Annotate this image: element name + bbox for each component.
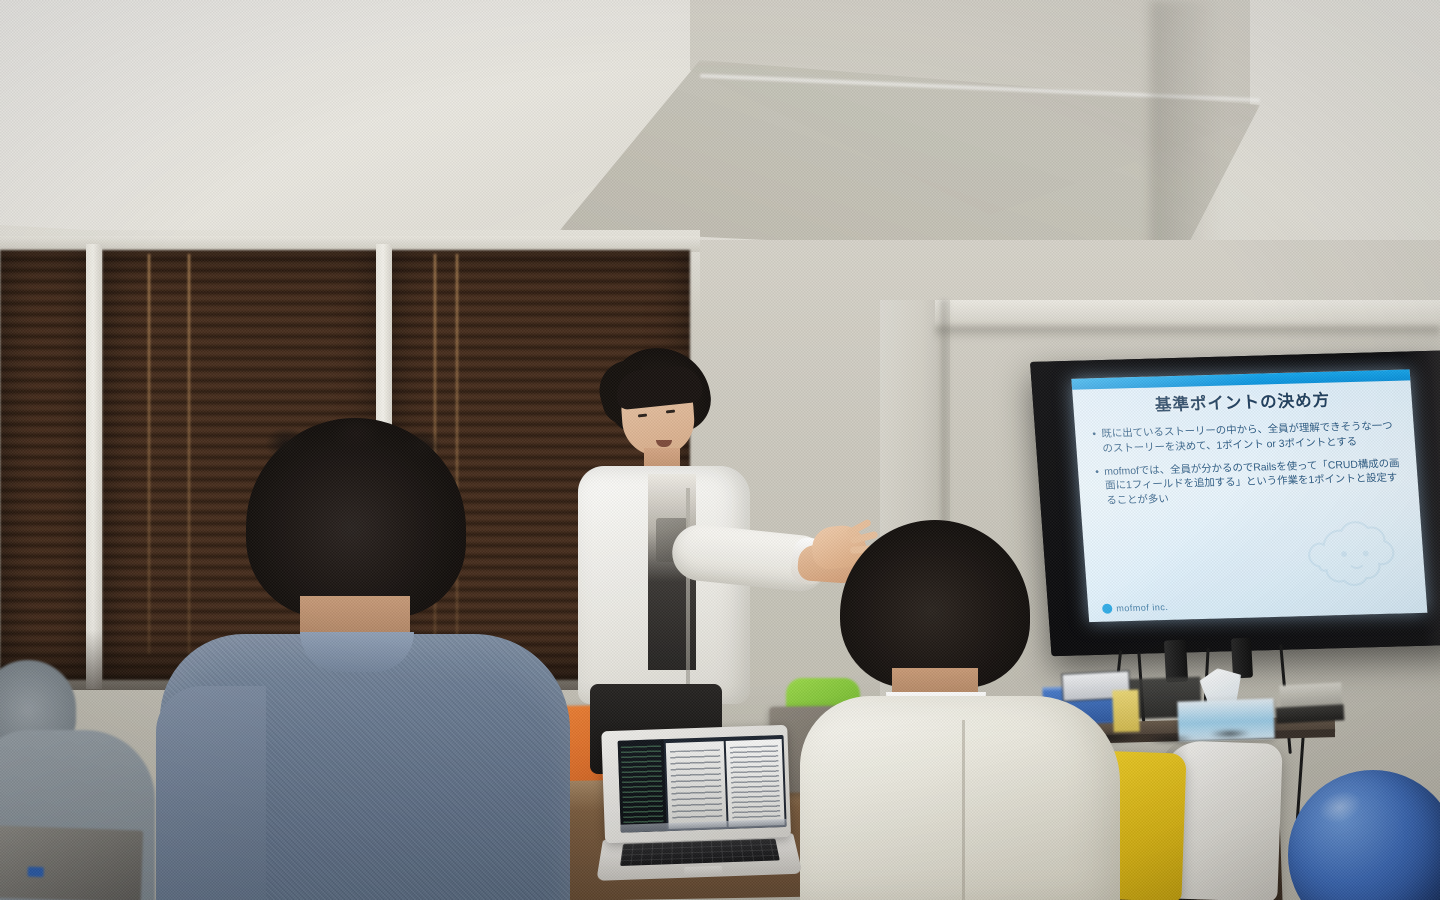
screen-text-rows xyxy=(730,745,781,821)
laptop-left xyxy=(0,825,143,900)
attendee-right-shirt xyxy=(800,696,1120,900)
attendee-right xyxy=(800,520,1130,900)
screen-text-rows xyxy=(670,749,722,821)
slide-title: 基準ポイントの決め方 xyxy=(1072,384,1412,417)
window-blind-panel xyxy=(0,250,95,680)
presenter-shirt-placket xyxy=(686,488,690,688)
meeting-room-photo: 基準ポイントの決め方 • 既に出ているストーリーの中から、全員が理解できそうな一… xyxy=(0,0,1440,900)
slide-bullet-item: • 既に出ているストーリーの中から、全員が理解できそうな一つのストーリーを決めて… xyxy=(1092,420,1402,458)
wall-recess-shadow xyxy=(935,326,1440,340)
tv-mount-bracket xyxy=(1231,638,1253,679)
attendee-front-hair-spikes xyxy=(246,410,466,480)
attendee-front-shoulder xyxy=(156,686,266,900)
mascot-watermark-icon xyxy=(1291,499,1417,610)
laptop-lid xyxy=(601,725,791,843)
laptop-screen xyxy=(618,735,787,833)
laptop-trackpad[interactable] xyxy=(684,866,722,876)
slide-bullet-text: 既に出ているストーリーの中から、全員が理解できそうな一つのストーリーを決めて、1… xyxy=(1101,420,1402,458)
tv-mount-bracket xyxy=(1164,639,1188,682)
window-mullion xyxy=(86,244,102,689)
attendee-right-shirt-seam xyxy=(962,720,965,900)
attendee-front-left xyxy=(150,418,580,900)
attendee-right-hair xyxy=(840,520,1030,688)
laptop-front[interactable] xyxy=(595,725,800,892)
laptop-sticker xyxy=(28,867,44,878)
screen-terminal-text xyxy=(621,745,664,826)
